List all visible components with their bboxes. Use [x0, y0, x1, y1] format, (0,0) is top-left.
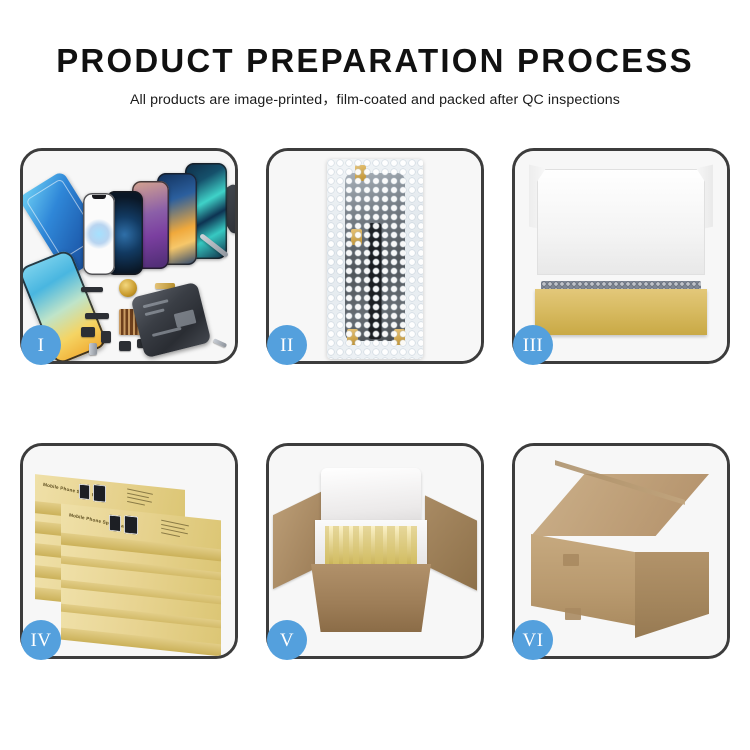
- step-panel-4: Mobile Phone Spare Parts Mobile Phone Sp…: [20, 443, 238, 659]
- box-artwork-screen-c: [109, 515, 121, 532]
- part-screw-icon: [213, 338, 227, 348]
- phones-and-parts-scene: [23, 151, 235, 361]
- part-strip-icon: [81, 287, 103, 292]
- part-bracket-icon: [101, 331, 111, 343]
- box-artwork-screen-d: [124, 515, 138, 534]
- carton-tape-upper-icon: [563, 554, 579, 566]
- step-image-6: [515, 446, 727, 656]
- carton-right-face-icon: [635, 552, 709, 638]
- box-artwork-screen-a: [79, 484, 90, 500]
- step-panel-3: III: [512, 148, 730, 364]
- step-badge-3: III: [513, 325, 553, 365]
- carton-left-face-icon: [531, 534, 637, 626]
- process-steps-grid: I II: [20, 148, 730, 673]
- foam-lid-icon: [321, 468, 421, 526]
- product-preparation-poster: PRODUCT PREPARATION PROCESS All products…: [0, 0, 750, 750]
- phone-front-glass-icon: [83, 193, 115, 275]
- box-stack-icon: Mobile Phone Spare Parts Mobile Phone Sp…: [31, 460, 231, 650]
- phone-notch-icon: [92, 195, 106, 199]
- step-image-2: [269, 151, 481, 361]
- step-badge-1: I: [21, 325, 61, 365]
- step-badge-6: VI: [513, 620, 553, 660]
- step-image-5: [269, 446, 481, 656]
- carton-front-icon: [311, 564, 431, 632]
- page-subtitle: All products are image-printed，film-coat…: [0, 79, 750, 109]
- bubble-wrap-bag-icon: [327, 159, 423, 359]
- step-image-4: Mobile Phone Spare Parts Mobile Phone Sp…: [23, 446, 235, 656]
- coil-part-icon: [119, 279, 137, 297]
- step-badge-2: II: [267, 325, 307, 365]
- yellow-box-base-icon: [535, 289, 707, 335]
- step-badge-5: V: [267, 620, 307, 660]
- step-panel-5: V: [266, 443, 484, 659]
- bubble-texture-icon: [327, 159, 423, 359]
- part-sim-tray-icon: [89, 343, 97, 355]
- step-image-1: [23, 151, 235, 361]
- phone-back-housing-icon: [131, 282, 212, 359]
- screen-glow-icon: [84, 219, 114, 249]
- step-badge-4: IV: [21, 620, 61, 660]
- step-panel-1: I: [20, 148, 238, 364]
- part-connector-icon: [81, 327, 95, 337]
- step-panel-2: II: [266, 148, 484, 364]
- step-panel-6: VI: [512, 443, 730, 659]
- carton-tape-lower-icon: [565, 608, 581, 620]
- carton-flap-right-icon: [425, 495, 477, 590]
- part-flex-cable-icon: [85, 313, 109, 319]
- header: PRODUCT PREPARATION PROCESS All products…: [0, 0, 750, 109]
- part-speaker-icon: [119, 341, 131, 351]
- yellow-boxes-inside-icon: [325, 526, 417, 564]
- box-artwork-screen-b: [93, 484, 106, 502]
- box-white-lid-icon: [537, 169, 705, 275]
- page-title: PRODUCT PREPARATION PROCESS: [0, 0, 750, 79]
- step-image-3: [515, 151, 727, 361]
